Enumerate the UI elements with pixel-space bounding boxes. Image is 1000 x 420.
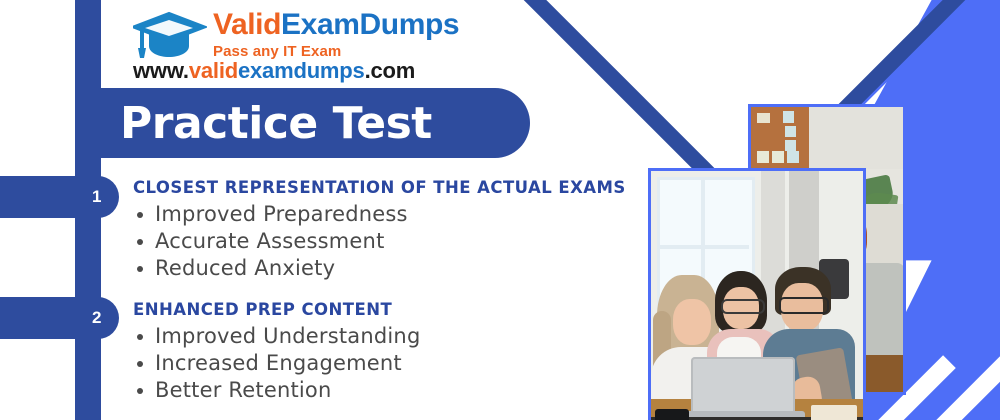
graduation-cap-icon xyxy=(133,8,207,60)
smartphone xyxy=(655,409,689,420)
window-mullion xyxy=(657,245,749,249)
brand-name-part3: Dumps xyxy=(360,8,460,41)
brand-tagline: Pass any IT Exam xyxy=(213,44,459,59)
sticky-note xyxy=(783,111,794,123)
list-item: Increased Engagement xyxy=(133,350,420,377)
brand-logo[interactable]: ValidExamDumps Pass any IT Exam xyxy=(133,8,459,60)
website-url[interactable]: www.validexamdumps.com xyxy=(133,58,415,84)
promo-banner: 1 2 ValidExamDumps Pass any IT Exam www.… xyxy=(0,0,1000,420)
sticky-note xyxy=(785,126,796,137)
office-wall xyxy=(809,107,906,177)
url-prefix: www. xyxy=(133,58,189,83)
url-suffix: .com xyxy=(365,58,416,83)
step-number-1: 1 xyxy=(75,176,119,218)
page-title: Practice Test xyxy=(120,92,432,154)
student-face xyxy=(673,299,711,345)
sticky-note xyxy=(757,151,769,163)
photo-students xyxy=(648,168,866,420)
section-two-bullets: Improved Understanding Increased Engagem… xyxy=(133,323,420,404)
step-number-2: 2 xyxy=(75,297,119,339)
url-part1: valid xyxy=(189,58,238,83)
sticky-note xyxy=(757,113,770,123)
list-item: Better Retention xyxy=(133,377,420,404)
laptop xyxy=(691,357,795,419)
eyeglasses-icon xyxy=(779,297,829,314)
url-part2: examdumps xyxy=(238,58,365,83)
list-item: Improved Understanding xyxy=(133,323,420,350)
brand-text-column: ValidExamDumps Pass any IT Exam xyxy=(213,10,459,59)
list-item: Accurate Assessment xyxy=(133,228,626,255)
section-one: CLOSEST REPRESENTATION OF THE ACTUAL EXA… xyxy=(133,178,626,282)
brand-name-part2: Exam xyxy=(281,8,359,41)
sticky-note xyxy=(787,151,799,163)
step-number-1-label: 1 xyxy=(92,187,102,207)
section-one-bullets: Improved Preparedness Accurate Assessmen… xyxy=(133,201,626,282)
sticky-note xyxy=(785,140,796,151)
list-item: Improved Preparedness xyxy=(133,201,626,228)
brand-name: ValidExamDumps xyxy=(213,10,459,40)
notebook xyxy=(811,405,857,420)
list-item: Reduced Anxiety xyxy=(133,255,626,282)
section-two: ENHANCED PREP CONTENT Improved Understan… xyxy=(133,300,420,404)
section-two-heading: ENHANCED PREP CONTENT xyxy=(133,300,420,319)
sticky-note xyxy=(772,151,784,163)
brand-name-part1: Valid xyxy=(213,8,281,41)
eyeglasses-icon xyxy=(721,299,765,314)
step-number-2-label: 2 xyxy=(92,308,102,328)
periwinkle-notch-right xyxy=(916,355,1000,420)
section-one-heading: CLOSEST REPRESENTATION OF THE ACTUAL EXA… xyxy=(133,178,626,197)
